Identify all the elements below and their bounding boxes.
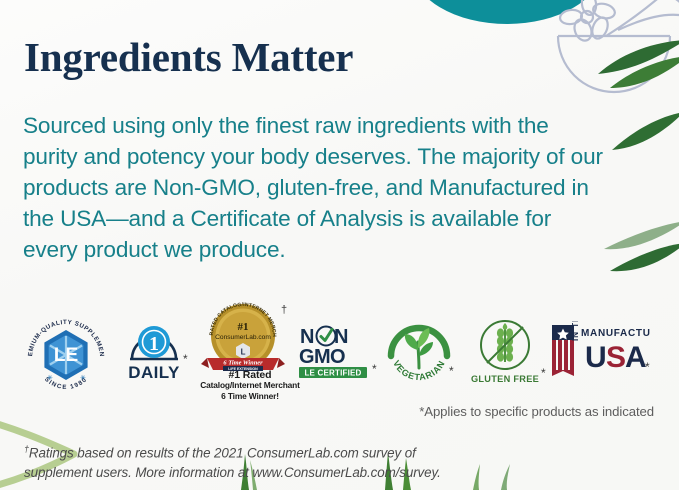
consumerlab-caption-line3: 6 Time Winner! <box>185 391 315 401</box>
ratings-footnote: †Ratings based on results of the 2021 Co… <box>24 439 544 483</box>
svg-text:A: A <box>625 341 646 374</box>
gluten-free-label: GLUTEN FREE <box>471 374 539 384</box>
vegetarian-asterisk: * <box>449 364 454 378</box>
promo-panel: Ingredients Matter Sourced using only th… <box>0 0 679 490</box>
page-title: Ingredients Matter <box>24 33 353 81</box>
svg-text:✳: ✳ <box>47 374 53 382</box>
leaf-decoration-top <box>596 40 679 110</box>
ratings-footnote-line2: supplement users. More information at ww… <box>24 465 441 480</box>
manufactured-in-usa-badge: MANUFACTURED IN THE U S A * <box>548 321 650 381</box>
non-gmo-certified-text: LE CERTIFIED <box>304 368 361 377</box>
svg-text:L: L <box>241 347 246 356</box>
usa-line-big: U <box>585 341 606 374</box>
consumerlab-caption-line2: Catalog/Internet Merchant <box>185 380 315 390</box>
one-daily-label: DAILY <box>128 363 180 381</box>
svg-text:S: S <box>606 341 625 374</box>
vegetarian-badge: VEGETARIAN * <box>383 316 461 386</box>
consumerlab-site: ConsumerLab.com <box>215 334 271 341</box>
one-daily-asterisk: * <box>183 352 188 366</box>
non-gmo-line1: N <box>300 326 314 348</box>
botanical-flower-line-art <box>540 0 679 120</box>
usa-asterisk: * <box>645 360 650 374</box>
le-seal-monogram: LE <box>54 345 78 366</box>
one-daily-numeral: 1 <box>149 333 159 355</box>
leaf-decoration-middle <box>612 110 679 170</box>
non-gmo-le-certified-badge: N N GMO LE CERTIFIED * <box>296 324 384 378</box>
usa-line-in-the: IN THE <box>571 321 580 341</box>
gluten-free-asterisk: * <box>541 366 546 380</box>
teal-arc-decoration <box>412 0 602 24</box>
usa-line-manufactured: MANUFACTURED <box>581 328 650 339</box>
leaf-decoration-lower <box>600 215 679 295</box>
consumerlab-dagger: † <box>281 304 287 316</box>
non-gmo-asterisk: * <box>372 362 377 376</box>
applies-footnote: *Applies to specific products as indicat… <box>419 404 654 419</box>
le-premium-quality-seal: PREMIUM-QUALITY SUPPLEMENTS SINCE 1980 ✳… <box>20 316 112 392</box>
consumerlab-ribbon-text: 6 Time Winner <box>223 360 263 367</box>
gluten-free-badge: GLUTEN FREE * <box>465 316 549 388</box>
svg-text:✳: ✳ <box>80 374 86 382</box>
ratings-footnote-line1: Ratings based on results of the 2021 Con… <box>29 445 416 460</box>
consumerlab-rank: #1 <box>238 321 249 333</box>
non-gmo-line2: GMO <box>299 346 345 368</box>
body-paragraph: Sourced using only the finest raw ingred… <box>23 110 603 265</box>
certification-badge-row: PREMIUM-QUALITY SUPPLEMENTS SINCE 1980 ✳… <box>0 291 679 403</box>
